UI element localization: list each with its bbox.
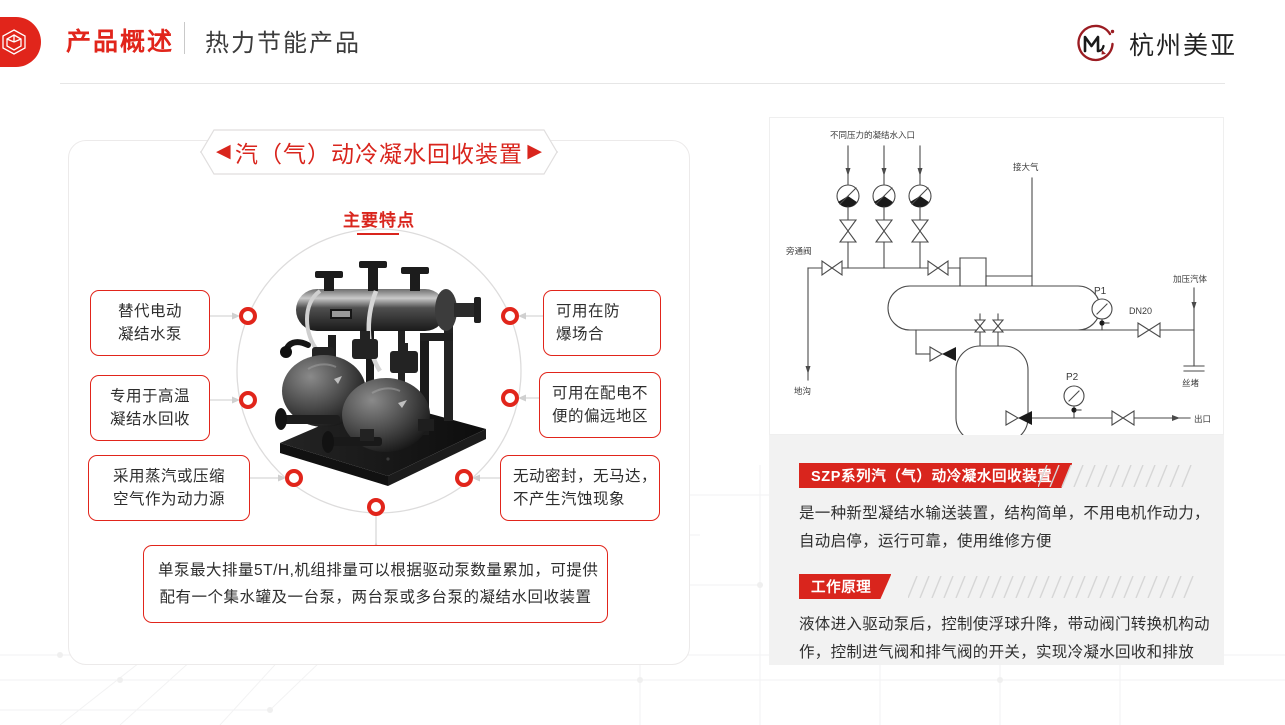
page-title: 产品概述: [66, 22, 174, 58]
section-banner-szp: SZP系列汽（气）动冷凝水回收装置: [799, 463, 1198, 488]
description-box: SZP系列汽（气）动冷凝水回收装置 是一种新型凝结水输送装置，结构简单，不用电机…: [769, 435, 1224, 665]
brand-logo: 杭州美亚: [1072, 20, 1237, 68]
diagram-label-pressurized-gas: 加压汽体: [1173, 274, 1208, 284]
section-paragraph-szp: 是一种新型凝结水输送装置，结构简单，不用电机作动力， 自动启停，运行可靠，使用维…: [799, 500, 1198, 556]
paragraph-line: 自动启停，运行可靠，使用维修方便: [799, 528, 1198, 556]
callout-no-seal-no-motor: 无动密封，无马达， 不产生汽蚀现象: [500, 455, 660, 521]
callout-remote-areas: 可用在配电不 便的偏远地区: [539, 372, 661, 438]
callout-line: 空气作为动力源: [101, 488, 237, 511]
paragraph-line: 作，控制进气阀和排气阀的开关，实现冷凝水回收和排放: [799, 639, 1198, 667]
section-banner-label: SZP系列汽（气）动冷凝水回收装置: [799, 463, 1072, 488]
section-banner-principle: 工作原理: [799, 574, 1198, 599]
product-photo: [268, 243, 491, 488]
page-header: 产品概述 热力节能产品 杭州美亚: [0, 0, 1285, 84]
callout-high-temperature: 专用于高温 凝结水回收: [90, 375, 210, 441]
callout-line: 专用于高温: [103, 385, 197, 408]
callout-line: 不产生汽蚀现象: [513, 488, 647, 511]
diagram-label-plug: 丝堵: [1182, 378, 1200, 388]
callout-line: 采用蒸汽或压缩: [101, 465, 237, 488]
callout-capacity-note: 单泵最大排量5T/H,机组排量可以根据驱动泵数量累加，可提供 配有一个集水罐及一…: [143, 545, 608, 623]
callout-line: 凝结水泵: [103, 323, 197, 346]
slide-page: 产品概述 热力节能产品 杭州美亚 ◀ 汽（气）动冷凝水回收装置 ▶ 主要特点: [0, 0, 1285, 725]
schematic-diagram-box: 不同压力的凝结水入口 旁通阀 接大气 地沟 P1 P2 加压汽体 DN20 丝堵…: [769, 117, 1224, 435]
section-gap: [799, 556, 1198, 574]
header-divider: [184, 22, 185, 54]
diagram-label-dn20: DN20: [1129, 306, 1152, 316]
paragraph-line: 液体进入驱动泵后，控制使浮球升降，带动阀门转换机构动: [799, 611, 1198, 639]
hatch-pattern-icon: [908, 576, 1198, 598]
brand-name: 杭州美亚: [1129, 26, 1237, 62]
callout-line: 替代电动: [103, 300, 197, 323]
callout-explosion-proof: 可用在防 爆场合: [543, 290, 661, 356]
callout-line: 可用在配电不: [552, 382, 648, 405]
callout-line: 单泵最大排量5T/H,机组排量可以根据驱动泵数量累加，可提供: [158, 557, 593, 584]
diagram-label-p2: P2: [1066, 372, 1079, 383]
section-paragraph-principle: 液体进入驱动泵后，控制使浮球升降，带动阀门转换机构动 作，控制进气阀和排气阀的开…: [799, 611, 1198, 667]
right-panel: 不同压力的凝结水入口 旁通阀 接大气 地沟 P1 P2 加压汽体 DN20 丝堵…: [769, 117, 1224, 665]
callout-line: 配有一个集水罐及一台泵，两台泵或多台泵的凝结水回收装置: [158, 584, 593, 611]
diagram-label-outlet: 出口: [1194, 414, 1211, 424]
header-rule: [60, 83, 1225, 84]
brand-mark-icon: [1072, 20, 1120, 68]
callout-replace-electric-pump: 替代电动 凝结水泵: [90, 290, 210, 356]
diagram-label-p1: P1: [1094, 286, 1107, 297]
hatch-pattern-icon: [1038, 465, 1198, 487]
diagram-label-atmosphere: 接大气: [1013, 162, 1039, 172]
piping-schematic: 不同压力的凝结水入口 旁通阀 接大气 地沟 P1 P2 加压汽体 DN20 丝堵…: [770, 118, 1225, 436]
callout-line: 便的偏远地区: [552, 405, 648, 428]
callout-line: 爆场合: [556, 323, 648, 346]
section-banner-label: 工作原理: [799, 574, 891, 599]
callout-line: 凝结水回收: [103, 408, 197, 431]
cube-hexagon-icon: [1, 28, 27, 56]
callout-steam-air-power: 采用蒸汽或压缩 空气作为动力源: [88, 455, 250, 521]
paragraph-line: 是一种新型凝结水输送装置，结构简单，不用电机作动力，: [799, 500, 1198, 528]
callout-line: 可用在防: [556, 300, 648, 323]
header-badge: [0, 17, 41, 67]
diagram-label-bypass-valve: 旁通阀: [786, 246, 812, 256]
diagram-label-drain: 地沟: [794, 386, 811, 396]
callout-line: 无动密封，无马达，: [513, 465, 647, 488]
page-subtitle: 热力节能产品: [205, 23, 361, 58]
diagram-label-inlet: 不同压力的凝结水入口: [830, 130, 915, 140]
